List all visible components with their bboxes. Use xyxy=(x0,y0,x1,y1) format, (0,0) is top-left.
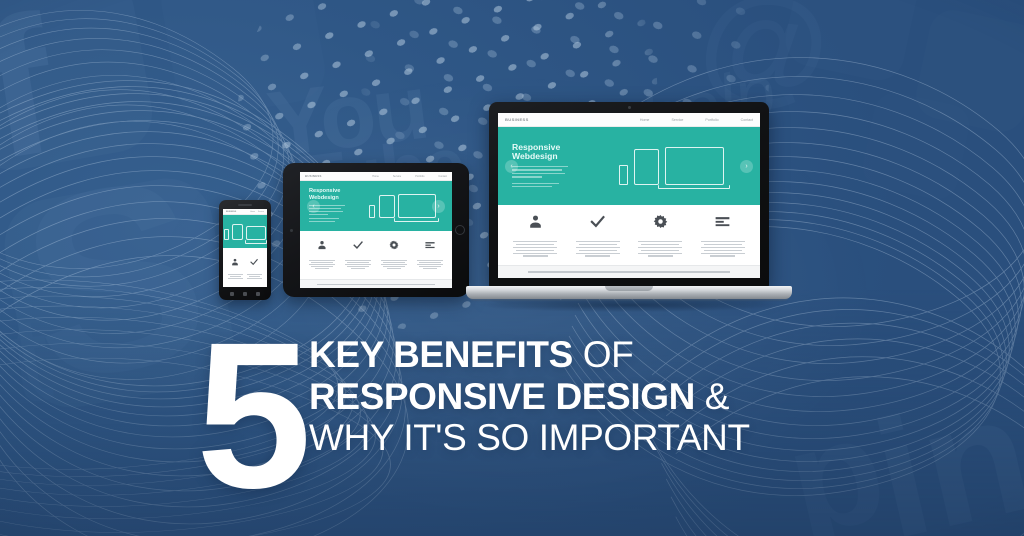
site-navbar: BUSINESS Home Service Portfolio Contact xyxy=(498,113,760,127)
tablet-screen: BUSINESS Home Service Portfolio Contact … xyxy=(300,172,452,288)
hero-next-arrow-icon[interactable]: › xyxy=(740,160,753,173)
laptop-mockup: BUSINESS Home Service Portfolio Contact … xyxy=(466,102,792,307)
site-nav-links: Home Service Portfolio Contact xyxy=(640,118,753,122)
headline-line-3: WHY IT'S SO IMPORTANT xyxy=(309,419,750,457)
hero-laptop-outline-icon xyxy=(665,147,724,185)
nav-link-service[interactable]: Service xyxy=(671,118,683,122)
feature-item xyxy=(634,214,687,258)
feature-text-lines xyxy=(245,274,263,279)
headline-line-2-light: & xyxy=(695,376,729,417)
list-icon xyxy=(425,237,435,255)
smartphone-screen: BUSINESS Home Service xyxy=(223,209,267,287)
hero-laptop-base-icon xyxy=(394,218,439,222)
feature-text-lines xyxy=(509,241,562,258)
hero-phone-outline-icon xyxy=(224,229,229,240)
feature-text-lines xyxy=(307,260,337,270)
nav-link-home[interactable]: Home xyxy=(372,175,379,178)
hero-tablet-outline-icon xyxy=(379,195,395,218)
feature-text-lines xyxy=(379,260,409,270)
feature-item xyxy=(379,237,409,270)
hero-laptop-outline-icon xyxy=(246,226,266,240)
gear-icon xyxy=(231,282,239,287)
site-hero: ‹ Responsive Webdesign xyxy=(300,181,452,231)
nav-link-contact[interactable]: Contact xyxy=(741,118,753,122)
hero-prev-arrow-icon[interactable]: ‹ xyxy=(307,200,320,213)
check-icon xyxy=(353,237,363,255)
user-icon xyxy=(317,237,327,255)
smartphone-body: BUSINESS Home Service xyxy=(219,200,271,300)
smartphone-buttons[interactable] xyxy=(219,289,271,298)
nav-link-service[interactable]: Service xyxy=(258,211,264,213)
nav-link-home[interactable]: Home xyxy=(250,211,255,213)
headline-line-1-light: OF xyxy=(573,334,633,375)
site-brand: BUSINESS xyxy=(226,211,236,213)
hero-prev-arrow-icon[interactable]: ‹ xyxy=(505,160,518,173)
laptop-camera-icon xyxy=(628,106,631,109)
site-navbar: BUSINESS Home Service Portfolio Contact xyxy=(300,172,452,181)
smartphone-speaker xyxy=(238,204,252,206)
tablet-home-button[interactable] xyxy=(455,225,465,235)
user-icon xyxy=(231,253,239,271)
hero-phone-outline-icon xyxy=(619,165,628,185)
hero-device-illustration xyxy=(224,224,266,240)
laptop-base xyxy=(466,286,792,299)
site-feature-row xyxy=(498,205,760,265)
list-icon xyxy=(250,282,258,287)
feature-item xyxy=(226,253,244,279)
hero-laptop-base-icon xyxy=(245,240,267,244)
headline-line-2: RESPONSIVE DESIGN & xyxy=(309,378,750,416)
nav-link-service[interactable]: Service xyxy=(393,175,401,178)
nav-link-contact[interactable]: Contact xyxy=(438,175,447,178)
laptop-lid: BUSINESS Home Service Portfolio Contact … xyxy=(489,102,769,288)
site-footer xyxy=(498,265,760,278)
hero-phone-outline-icon xyxy=(369,205,375,218)
feature-item xyxy=(697,214,750,258)
hero-device-illustration xyxy=(362,194,443,218)
user-icon xyxy=(528,214,543,234)
headline-line-2-bold: RESPONSIVE DESIGN xyxy=(309,376,695,417)
hero-title-line2: Webdesign xyxy=(309,195,362,201)
mock-website-tablet: BUSINESS Home Service Portfolio Contact … xyxy=(300,172,452,288)
feature-item xyxy=(307,237,337,270)
headline-line-1-bold: KEY BENEFITS xyxy=(309,334,573,375)
gear-icon xyxy=(389,237,399,255)
site-nav-links: Home Service Portfolio Contact xyxy=(372,175,447,178)
headline-number: 5 xyxy=(196,312,306,520)
nav-link-portfolio[interactable]: Portfolio xyxy=(705,118,718,122)
feature-text-lines xyxy=(572,241,625,258)
laptop-screen: BUSINESS Home Service Portfolio Contact … xyxy=(498,113,760,278)
headline-lines: KEY BENEFITS OF RESPONSIVE DESIGN & WHY … xyxy=(309,336,750,457)
list-icon xyxy=(715,214,730,234)
tablet-camera-icon xyxy=(290,229,293,232)
check-icon xyxy=(250,253,258,271)
feature-item xyxy=(509,214,562,258)
hero-tablet-outline-icon xyxy=(232,224,243,240)
site-brand: BUSINESS xyxy=(505,117,529,122)
nav-link-home[interactable]: Home xyxy=(640,118,650,122)
site-hero xyxy=(223,215,267,248)
headline-block: 5 KEY BENEFITS OF RESPONSIVE DESIGN & WH… xyxy=(196,330,896,490)
check-icon xyxy=(590,214,605,234)
site-feature-row xyxy=(223,248,267,287)
site-nav-links: Home Service xyxy=(250,211,264,213)
hero-next-arrow-icon[interactable]: › xyxy=(432,200,445,213)
feature-text-lines xyxy=(634,241,687,258)
hero-laptop-outline-icon xyxy=(398,194,436,218)
hero-tablet-outline-icon xyxy=(634,149,659,185)
feature-text-lines xyxy=(226,274,244,279)
hero-device-illustration xyxy=(596,147,746,185)
site-hero: ‹ Responsive Webdesign xyxy=(498,127,760,205)
site-footer xyxy=(300,279,452,288)
smartphone-mockup: BUSINESS Home Service xyxy=(219,200,271,300)
hero-body-lines xyxy=(512,166,596,187)
feature-item xyxy=(245,282,263,287)
feature-item xyxy=(343,237,373,270)
feature-item xyxy=(415,237,445,270)
poster-canvas: f You Tube S help in p @ t xyxy=(0,0,1024,536)
feature-text-lines xyxy=(343,260,373,270)
feature-item xyxy=(572,214,625,258)
gear-icon xyxy=(653,214,668,234)
hero-text-block: Responsive Webdesign xyxy=(512,143,596,190)
mock-website-phone: BUSINESS Home Service xyxy=(223,209,267,287)
mock-website-laptop: BUSINESS Home Service Portfolio Contact … xyxy=(498,113,760,278)
hero-title-line2: Webdesign xyxy=(512,152,596,162)
feature-text-lines xyxy=(415,260,445,270)
nav-link-portfolio[interactable]: Portfolio xyxy=(415,175,424,178)
feature-text-lines xyxy=(697,241,750,258)
feature-item xyxy=(245,253,263,279)
tablet-mockup: BUSINESS Home Service Portfolio Contact … xyxy=(283,163,469,297)
hero-laptop-base-icon xyxy=(658,185,730,189)
site-brand: BUSINESS xyxy=(305,174,322,178)
tablet-body: BUSINESS Home Service Portfolio Contact … xyxy=(283,163,469,297)
feature-item xyxy=(226,282,244,287)
site-feature-row xyxy=(300,231,452,279)
headline-line-1: KEY BENEFITS OF xyxy=(309,336,750,374)
